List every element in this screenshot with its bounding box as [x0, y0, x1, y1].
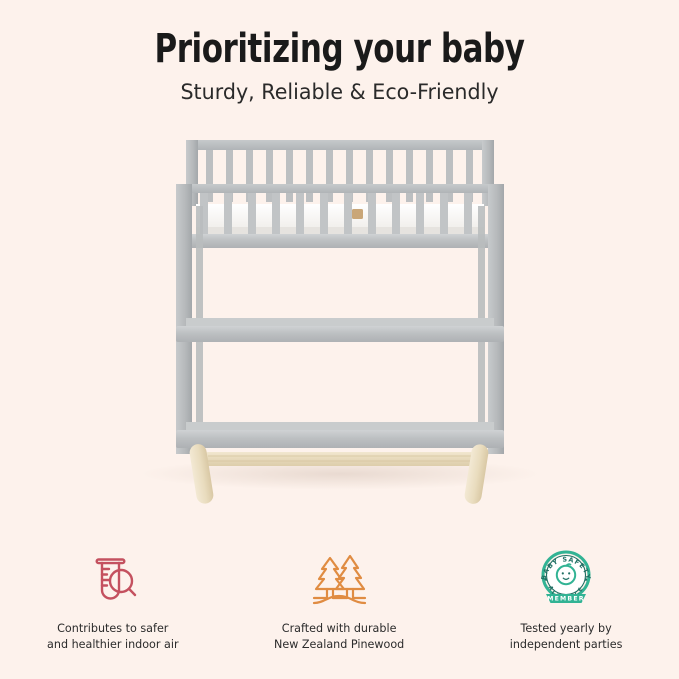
page-title: Prioritizing your baby: [48, 26, 632, 72]
brand-tag-icon: [352, 209, 363, 219]
feature-row: Contributes to safer and healthier indoo…: [0, 548, 679, 653]
feature-item-pinewood: Crafted with durable New Zealand Pinewoo…: [239, 548, 439, 653]
pine-trees-icon: [308, 548, 370, 610]
changing-table-illustration: [0, 122, 679, 522]
baby-safety-alliance-badge-icon: BABY SAFETY ALLIANCE MEM: [533, 548, 599, 610]
feature-item-air-quality: Contributes to safer and healthier indoo…: [13, 548, 213, 653]
feature-caption: Crafted with durable New Zealand Pinewoo…: [274, 620, 404, 653]
badge-ribbon-text: MEMBER: [547, 596, 584, 603]
header: Prioritizing your baby Sturdy, Reliable …: [0, 0, 679, 106]
feature-caption: Contributes to safer and healthier indoo…: [47, 620, 178, 653]
middle-shelf: [176, 318, 504, 342]
feature-item-safety-badge: BABY SAFETY ALLIANCE MEM: [466, 548, 666, 653]
feature-caption: Tested yearly by independent parties: [509, 620, 622, 653]
test-tube-magnifier-icon: [84, 548, 142, 610]
bottom-shelf: [176, 422, 504, 448]
base-crossbar: [205, 452, 475, 466]
page-subtitle: Sturdy, Reliable & Eco-Friendly: [14, 80, 666, 106]
promo-page: Prioritizing your baby Sturdy, Reliable …: [0, 0, 679, 679]
product-image: [0, 122, 679, 522]
